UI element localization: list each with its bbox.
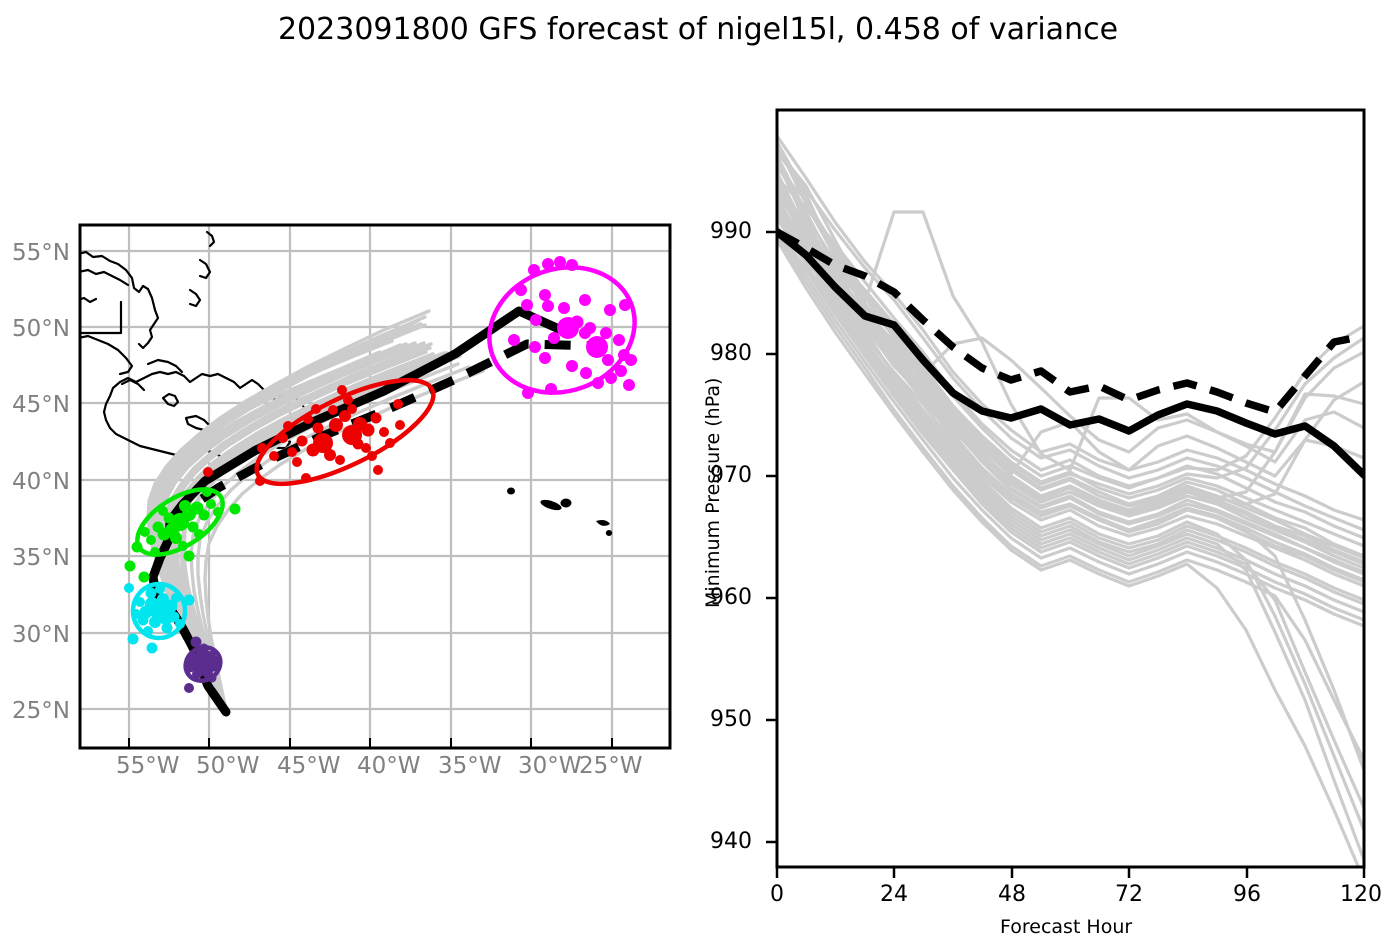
map-ylabel-40n: 40°N — [12, 469, 70, 495]
map-xlabel-35w: 35°W — [438, 753, 502, 779]
pressure-xlabel-96: 96 — [1233, 882, 1261, 907]
pressure-x-ticks — [777, 867, 1364, 878]
pressure-xlabel-72: 72 — [1115, 882, 1143, 907]
map-ylabel-55n: 55°N — [12, 240, 70, 266]
pressure-yaxis-title: Minimum Pressure (hPa) — [702, 378, 724, 608]
pressure-plot-svg — [680, 0, 1396, 941]
forecast-figure: 2023091800 GFS forecast of nigel15l, 0.4… — [0, 0, 1396, 941]
pressure-xlabel-120: 120 — [1340, 882, 1382, 907]
map-xlabel-45w: 45°W — [277, 753, 341, 779]
pressure-ylabel-990: 990 — [710, 219, 752, 244]
map-xlabel-25w: 25°W — [579, 753, 643, 779]
pressure-ylabel-950: 950 — [710, 707, 752, 732]
pressure-xaxis-title: Forecast Hour — [1000, 916, 1132, 938]
pressure-panel: 990 980 970 960 950 940 0 24 48 72 96 12… — [680, 0, 1396, 941]
track-map-panel: 55°N 50°N 45°N 40°N 35°N 30°N 25°N 55°W … — [0, 0, 700, 800]
track-map-svg — [0, 0, 700, 800]
pressure-xlabel-0: 0 — [770, 882, 784, 907]
map-ylabel-35n: 35°N — [12, 545, 70, 571]
map-xlabel-50w: 50°W — [196, 753, 260, 779]
map-xlabel-55w: 55°W — [116, 753, 180, 779]
pressure-xlabel-24: 24 — [880, 882, 908, 907]
pressure-ylabel-980: 980 — [710, 341, 752, 366]
pressure-y-ticks — [766, 232, 777, 842]
map-ylabel-25n: 25°N — [12, 698, 70, 724]
map-xlabel-30w: 30°W — [518, 753, 582, 779]
map-ylabel-45n: 45°N — [12, 392, 70, 418]
pressure-xlabel-48: 48 — [998, 882, 1026, 907]
map-ylabel-30n: 30°N — [12, 622, 70, 648]
map-xlabel-40w: 40°W — [357, 753, 421, 779]
pressure-ylabel-940: 940 — [710, 829, 752, 854]
map-ylabel-50n: 50°N — [12, 316, 70, 342]
